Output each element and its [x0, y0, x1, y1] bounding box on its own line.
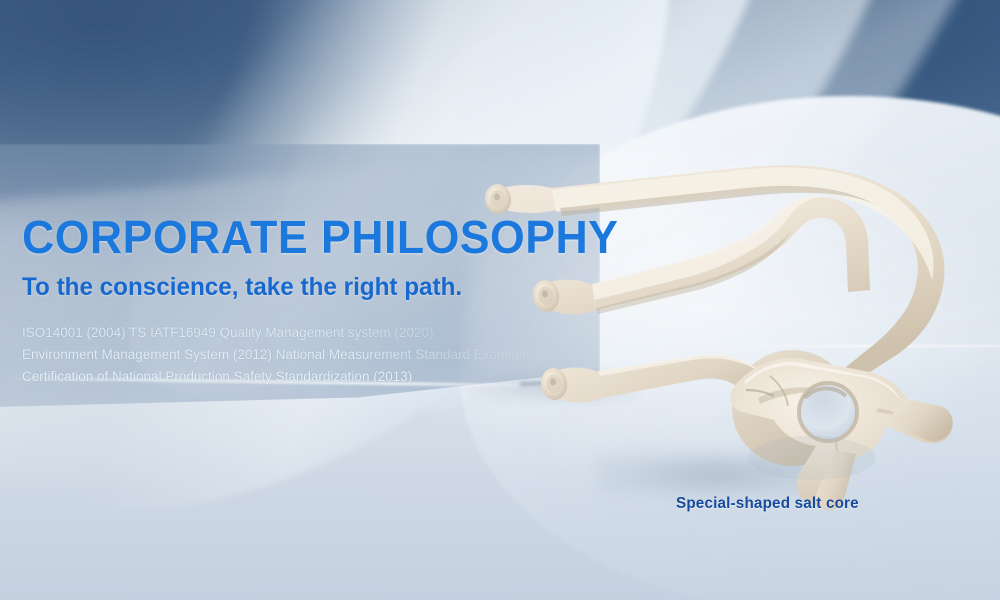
- banner-copy-block: CORPORATE PHILOSOPHY To the conscience, …: [22, 214, 642, 388]
- certification-line-2: Environment Management System (2012) Nat…: [22, 344, 642, 366]
- page-title: CORPORATE PHILOSOPHY: [22, 214, 623, 260]
- certification-list: ISO14001 (2004) TS IATF16949 Quality Man…: [22, 322, 642, 388]
- page-subtitle: To the conscience, take the right path.: [22, 274, 623, 302]
- certification-line-3: Certification of National Production Saf…: [22, 366, 642, 388]
- product-caption: Special-shaped salt core: [676, 495, 859, 513]
- certification-line-1: ISO14001 (2004) TS IATF16949 Quality Man…: [22, 322, 642, 344]
- corporate-philosophy-banner: CORPORATE PHILOSOPHY To the conscience, …: [0, 0, 1000, 600]
